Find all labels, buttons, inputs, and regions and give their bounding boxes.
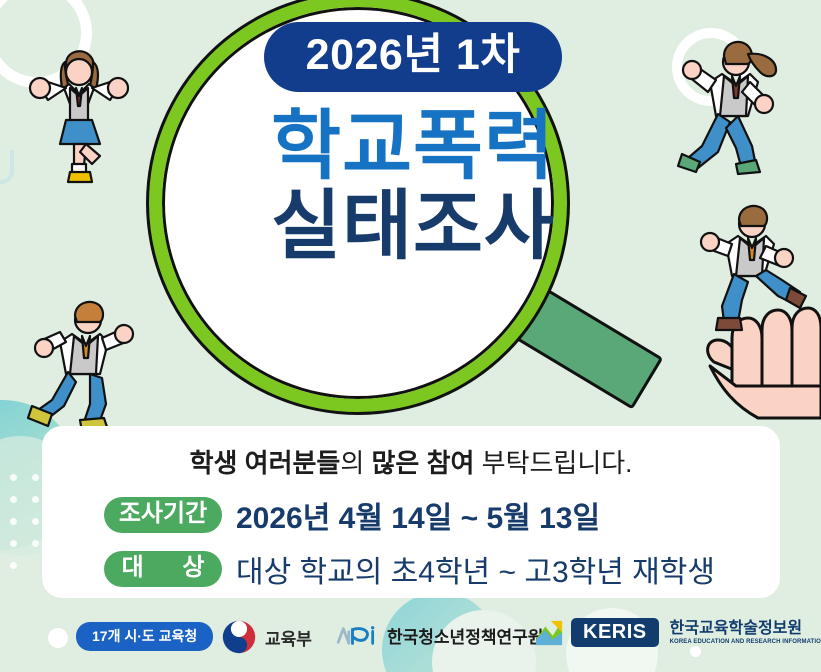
target-audience-label: 대 상 — [104, 551, 222, 587]
info-panel: 학생 여러분들의 많은 참여 부탁드립니다. 조사기간 2026년 4월 14일… — [42, 426, 780, 598]
logo-keris: KERIS 한국교육학술정보원 KOREA EDUCATION AND RESE… — [534, 618, 821, 647]
ministry-of-education-label: 교육부 — [265, 625, 312, 650]
appeal-light-1: 의 — [340, 448, 371, 478]
appeal-bold-2: 많은 참여 — [372, 448, 475, 478]
target-audience-row: 대 상 대상 학교의 초4학년 ~ 고3학년 재학생 — [42, 547, 780, 591]
survey-period-row: 조사기간 2026년 4월 14일 ~ 5월 13일 — [42, 493, 780, 537]
offices-badge: 17개 시·도 교육청 — [76, 622, 213, 651]
keris-mark-icon — [534, 619, 564, 647]
logo-nypi: 한국청소년정책연구원 — [336, 623, 543, 648]
appeal-message: 학생 여러분들의 많은 참여 부탁드립니다. — [42, 448, 780, 479]
appeal-light-2: 부탁드립니다. — [474, 448, 632, 478]
student-figure-running-boy-right — [690, 196, 812, 338]
poster-root: 2026년 1차 학교폭력 실태조사 — [0, 0, 821, 672]
title-line-1: 학교폭력 — [133, 108, 693, 186]
student-figure-walking-boy-left — [22, 290, 148, 436]
survey-period-value: 2026년 4월 14일 ~ 5월 13일 — [236, 493, 600, 537]
title-line-2: 실태조사 — [133, 188, 693, 266]
keris-wordmark: KERIS — [571, 618, 659, 647]
appeal-bold-1: 학생 여러분들 — [190, 448, 341, 478]
keris-korean-name: 한국교육학술정보원 — [670, 620, 821, 638]
nypi-mark-icon — [336, 625, 380, 647]
taegeuk-icon — [222, 620, 256, 654]
nypi-label: 한국청소년정책연구원 — [387, 623, 543, 648]
survey-period-label: 조사기간 — [104, 497, 222, 533]
keris-english-name: KOREA EDUCATION AND RESEARCH INFORMATION… — [670, 639, 821, 645]
target-audience-value: 대상 학교의 초4학년 ~ 고3학년 재학생 — [236, 547, 715, 591]
phase-badge: 2026년 1차 — [264, 22, 563, 92]
keris-name-block: 한국교육학술정보원 KOREA EDUCATION AND RESEARCH I… — [670, 620, 821, 646]
student-figure-cheering-girl — [22, 44, 138, 184]
logo-ministry-of-education: 교육부 — [222, 620, 312, 654]
headline-block: 2026년 1차 학교폭력 실태조사 — [133, 22, 693, 265]
hook-decoration-left — [0, 150, 14, 184]
footer-logo-bar: 17개 시·도 교육청 교육부 한국청소년정책연구원 — [0, 604, 821, 672]
